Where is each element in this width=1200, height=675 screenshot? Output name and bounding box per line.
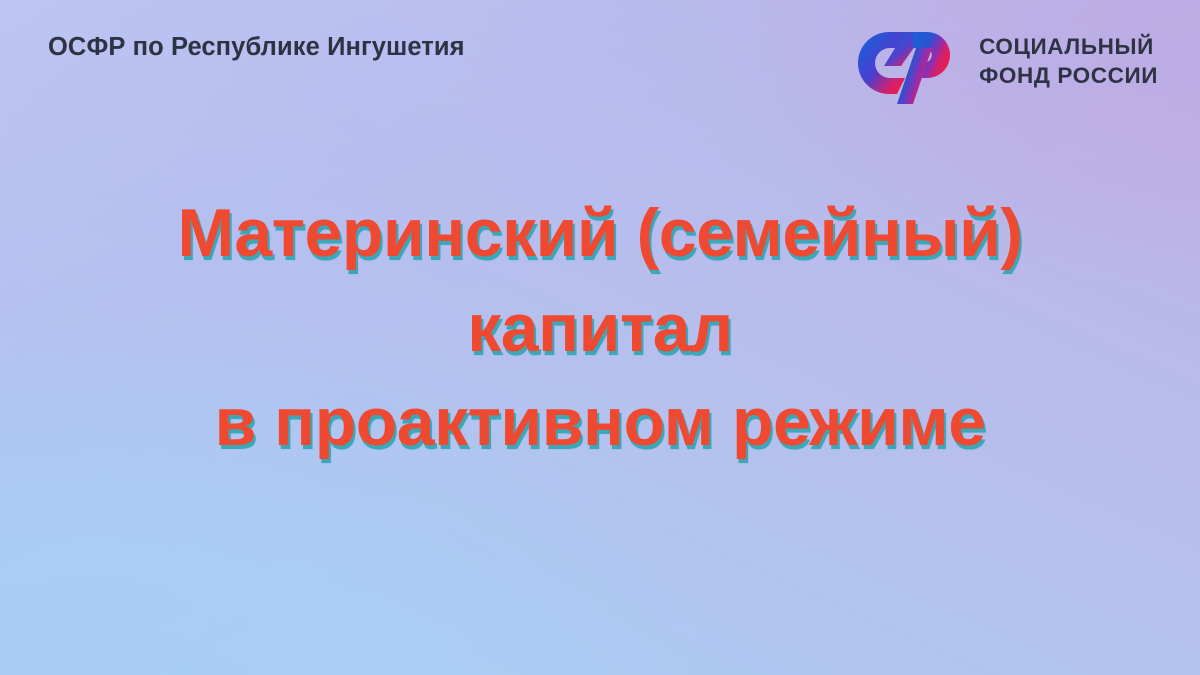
brand-wordmark: СОЦИАЛЬНЫЙ ФОНД РОССИИ [979,34,1158,89]
slide-title: Материнский (семейный) капитал в проакти… [0,186,1200,470]
title-line-3: в проактивном режиме [40,375,1160,470]
brand-wordmark-line-2: ФОНД РОССИИ [979,63,1158,90]
title-line-2: капитал [40,281,1160,376]
title-line-1: Материнский (семейный) [40,186,1160,281]
brand-wordmark-line-1: СОЦИАЛЬНЫЙ [979,34,1158,61]
social-fund-of-russia-emblem-icon [853,19,961,105]
brand-lockup: СОЦИАЛЬНЫЙ ФОНД РОССИИ [853,19,1158,105]
organization-name: ОСФР по Республике Ингушетия [48,33,465,62]
slide-canvas: ОСФР по Республике Ингушетия [0,0,1200,675]
slide-header: ОСФР по Республике Ингушетия [0,0,1200,124]
